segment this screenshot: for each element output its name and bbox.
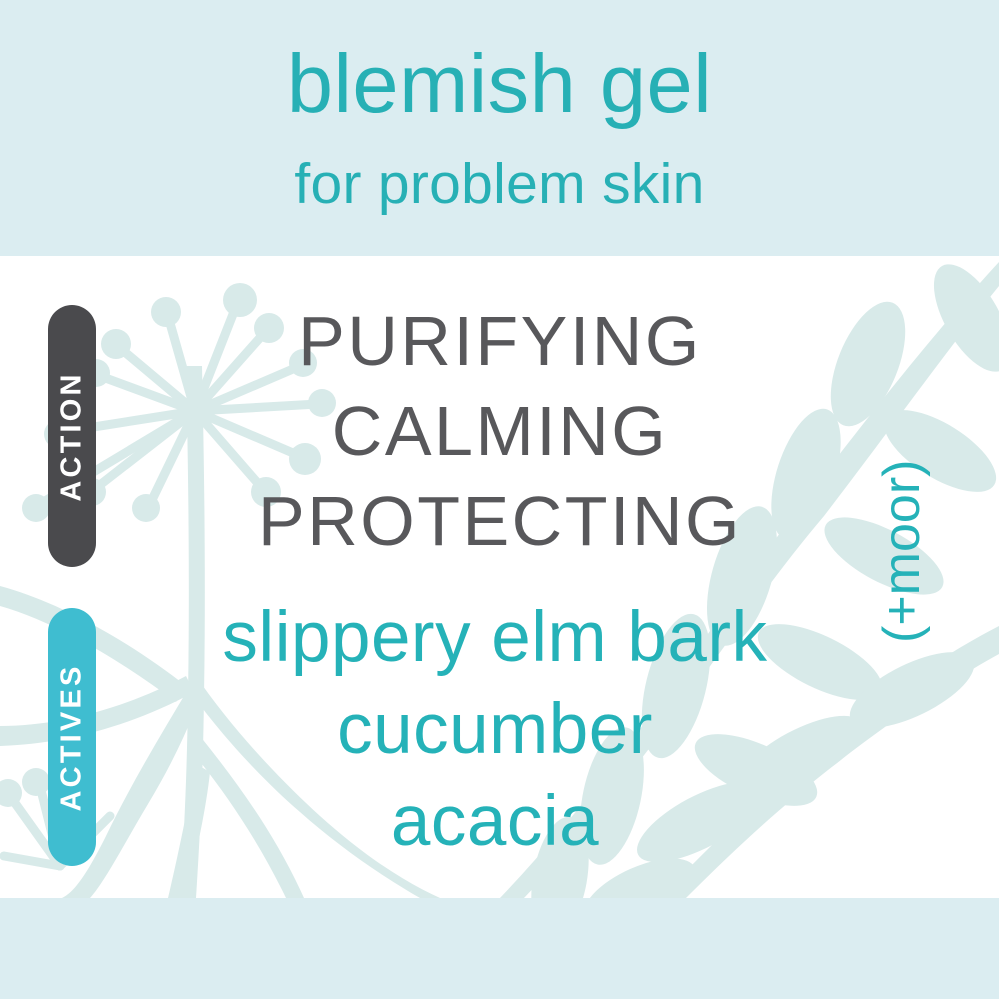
pill-actives-label: ACTIVES xyxy=(58,663,87,811)
footer-band xyxy=(0,898,999,999)
product-label-card: blemish gel for problem skin ACTION ACTI… xyxy=(0,0,999,999)
actives-list-item: acacia xyxy=(130,776,860,868)
product-subtitle: for problem skin xyxy=(0,156,999,213)
actives-list: slippery elm bark cucumber acacia xyxy=(130,592,860,868)
action-list-item: CALMING xyxy=(150,386,850,476)
pill-actives: ACTIVES xyxy=(48,608,96,866)
actives-list-item: cucumber xyxy=(130,684,860,776)
action-list: PURIFYING CALMING PROTECTING xyxy=(150,296,850,566)
action-list-item: PURIFYING xyxy=(150,296,850,386)
actives-list-item: slippery elm bark xyxy=(130,592,860,684)
product-title: blemish gel xyxy=(0,42,999,125)
action-list-item: PROTECTING xyxy=(150,476,850,566)
pill-action-label: ACTION xyxy=(58,371,87,501)
side-note-moor: (+moor) xyxy=(872,383,932,643)
pill-action: ACTION xyxy=(48,305,96,567)
